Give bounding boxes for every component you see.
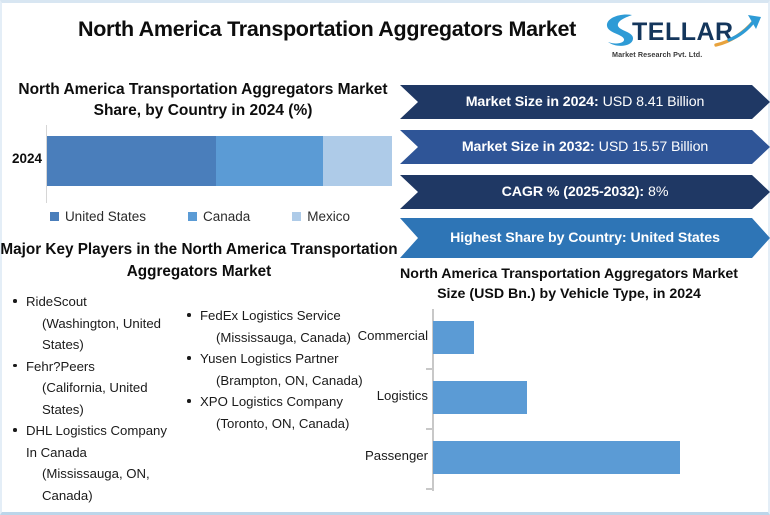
page-title: North America Transportation Aggregators… [62, 17, 592, 42]
market-share-category-label: 2024 [0, 151, 42, 166]
legend-item: United States [50, 209, 146, 224]
logo-mark-icon: TELLAR [598, 9, 770, 53]
metric-banner: Market Size in 2024:USD 8.41 Billion [400, 85, 770, 119]
legend-swatch-icon [292, 212, 301, 221]
header: North America Transportation Aggregators… [2, 3, 768, 69]
legend-label: Mexico [307, 209, 350, 224]
stacked-bar-segment [323, 136, 392, 186]
metric-banner-value: 8% [648, 184, 668, 200]
key-players-section: Major Key Players in the North America T… [2, 239, 402, 514]
key-players-title: Major Key Players in the North America T… [0, 239, 402, 283]
vehicle-type-plot: CommercialLogisticsPassenger [388, 309, 770, 499]
key-player-name: Fehr?Peers [26, 359, 95, 374]
stacked-bar [47, 136, 392, 186]
legend-item: Mexico [292, 209, 350, 224]
stacked-bar-segment [216, 136, 323, 186]
legend-swatch-icon [50, 212, 59, 221]
metric-banner-label: Highest Share by Country: [450, 230, 626, 246]
key-player-location: (Mississauga, ON, Canada) [26, 463, 172, 506]
vehicle-type-row: Commercial [388, 309, 770, 369]
bullet-icon [187, 313, 191, 317]
metric-banner: Highest Share by Country:United States [400, 218, 770, 258]
vehicle-type-row: Logistics [388, 369, 770, 429]
vehicle-type-label: Logistics [342, 388, 428, 403]
metric-banner-label: Market Size in 2024: [466, 94, 599, 110]
key-player-item: RideScout(Washington, United States) [10, 291, 172, 356]
market-share-chart-title: North America Transportation Aggregators… [18, 79, 388, 121]
legend-item: Canada [188, 209, 250, 224]
metric-banner-label: CAGR % (2025-2032): [502, 184, 644, 200]
key-player-name: XPO Logistics Company [200, 394, 343, 409]
vehicle-type-bar [433, 441, 680, 474]
vehicle-type-chart: North America Transportation Aggregators… [388, 261, 770, 511]
svg-text:TELLAR: TELLAR [632, 18, 734, 46]
vehicle-type-bar [433, 321, 474, 354]
key-player-item: Yusen Logistics Partner(Brampton, ON, Ca… [184, 348, 377, 391]
key-metrics-banners: Market Size in 2024:USD 8.41 BillionMark… [400, 85, 770, 257]
vehicle-type-label: Commercial [342, 328, 428, 343]
vehicle-type-label: Passenger [342, 448, 428, 463]
key-players-title-line2: Aggregators Market [0, 261, 402, 283]
metric-banner: Market Size in 2032:USD 15.57 Billion [400, 130, 770, 164]
key-player-location: (California, United States) [26, 377, 172, 420]
vehicle-type-row: Passenger [388, 429, 770, 489]
vehicle-type-bar [433, 381, 527, 414]
key-player-item: DHL Logistics Company In Canada(Mississa… [10, 420, 172, 506]
bullet-icon [187, 356, 191, 360]
legend-label: Canada [203, 209, 250, 224]
key-player-name: DHL Logistics Company In Canada [26, 423, 167, 460]
vehicle-type-chart-title: North America Transportation Aggregators… [394, 265, 744, 304]
metric-banner-value: USD 15.57 Billion [599, 139, 709, 155]
market-share-plot: 2024 [2, 125, 398, 203]
key-players-title-line1: Major Key Players in the North America T… [0, 241, 397, 258]
metric-banner-label: Market Size in 2032: [462, 139, 595, 155]
market-share-chart: North America Transportation Aggregators… [2, 73, 398, 238]
metric-banner-value: USD 8.41 Billion [603, 94, 705, 110]
bullet-icon [13, 299, 17, 303]
bullet-icon [13, 364, 17, 368]
stellar-logo: TELLAR Market Research Pvt. Ltd. [598, 9, 770, 65]
legend-label: United States [65, 209, 146, 224]
logo-tagline: Market Research Pvt. Ltd. [612, 50, 702, 59]
key-player-name: RideScout [26, 294, 87, 309]
key-player-item: Fehr?Peers(California, United States) [10, 356, 172, 421]
bullet-icon [13, 428, 17, 432]
axis-tick [426, 488, 432, 490]
stacked-bar-segment [47, 136, 216, 186]
infographic-page: North America Transportation Aggregators… [0, 0, 770, 515]
legend-swatch-icon [188, 212, 197, 221]
key-player-location: (Toronto, ON, Canada) [200, 413, 377, 435]
key-player-name: Yusen Logistics Partner [200, 351, 339, 366]
metric-banner: CAGR % (2025-2032):8% [400, 175, 770, 209]
bullet-icon [187, 399, 191, 403]
key-player-location: (Washington, United States) [26, 313, 172, 356]
market-share-legend: United StatesCanadaMexico [2, 209, 398, 224]
key-players-column-1: RideScout(Washington, United States)Fehr… [2, 291, 172, 506]
metric-banner-value: United States [631, 230, 720, 246]
key-player-name: FedEx Logistics Service [200, 308, 341, 323]
